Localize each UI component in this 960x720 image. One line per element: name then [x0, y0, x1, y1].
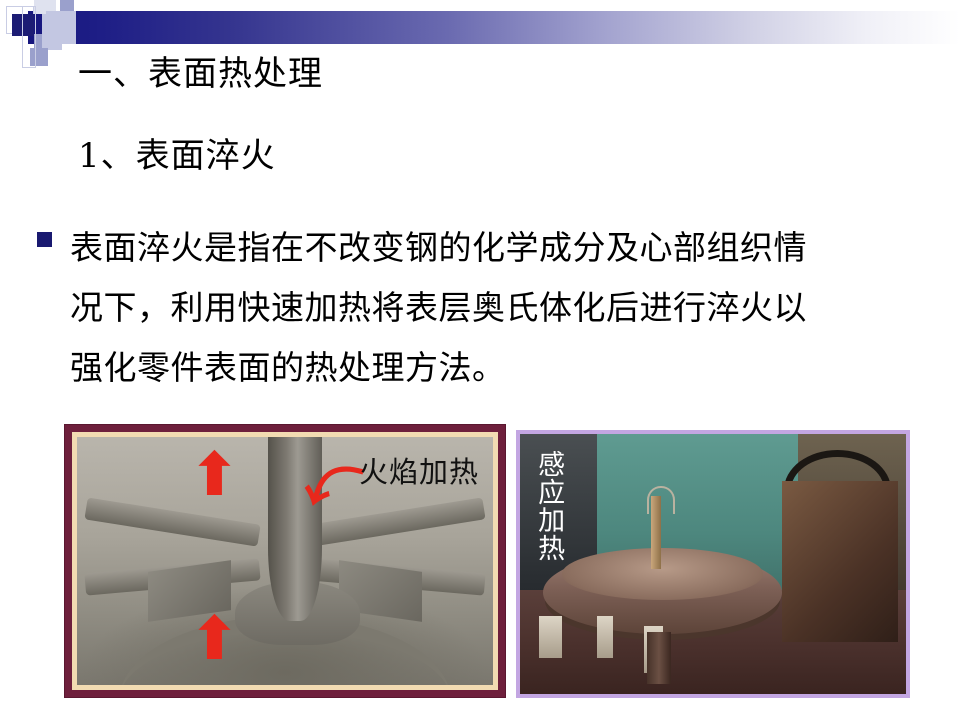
figure-flame-inner-frame: ⬆ ⬆ ⤵ 火焰加热: [72, 432, 498, 690]
figure-induction-label: 感应加热: [534, 450, 563, 562]
induction-support-leg: [539, 616, 562, 658]
body-text: 表面淬火是指在不改变钢的化学成分及心部组织情 况下，利用快速加热将表层奥氏体化后…: [70, 218, 950, 398]
figure-flame-heating: ⬆ ⬆ ⤵ 火焰加热: [64, 424, 506, 698]
induction-spindle-hook: [647, 486, 674, 514]
arrow-up-icon: ⬆: [189, 618, 239, 660]
figure-induction-heating: 感应加热: [516, 430, 910, 698]
figure-flame-label: 火焰加热: [359, 449, 479, 491]
induction-equipment: [782, 481, 898, 642]
body-line: 况下，利用快速加热将表层奥氏体化后进行淬火以: [70, 278, 950, 338]
body-line: 强化零件表面的热处理方法。: [70, 338, 950, 398]
figure-induction-inner-frame: 感应加热: [520, 434, 906, 694]
body-line: 表面淬火是指在不改变钢的化学成分及心部组织情: [70, 218, 950, 278]
arrow-up-icon: ⬆: [189, 454, 239, 496]
section-heading-primary: 一、表面热处理: [78, 46, 323, 95]
bullet-square-icon: [37, 232, 52, 247]
induction-pedestal: [647, 632, 670, 684]
figure-induction-photo: [520, 434, 906, 694]
section-heading-secondary: 1、表面淬火: [78, 128, 276, 177]
induction-support-leg: [597, 616, 612, 658]
